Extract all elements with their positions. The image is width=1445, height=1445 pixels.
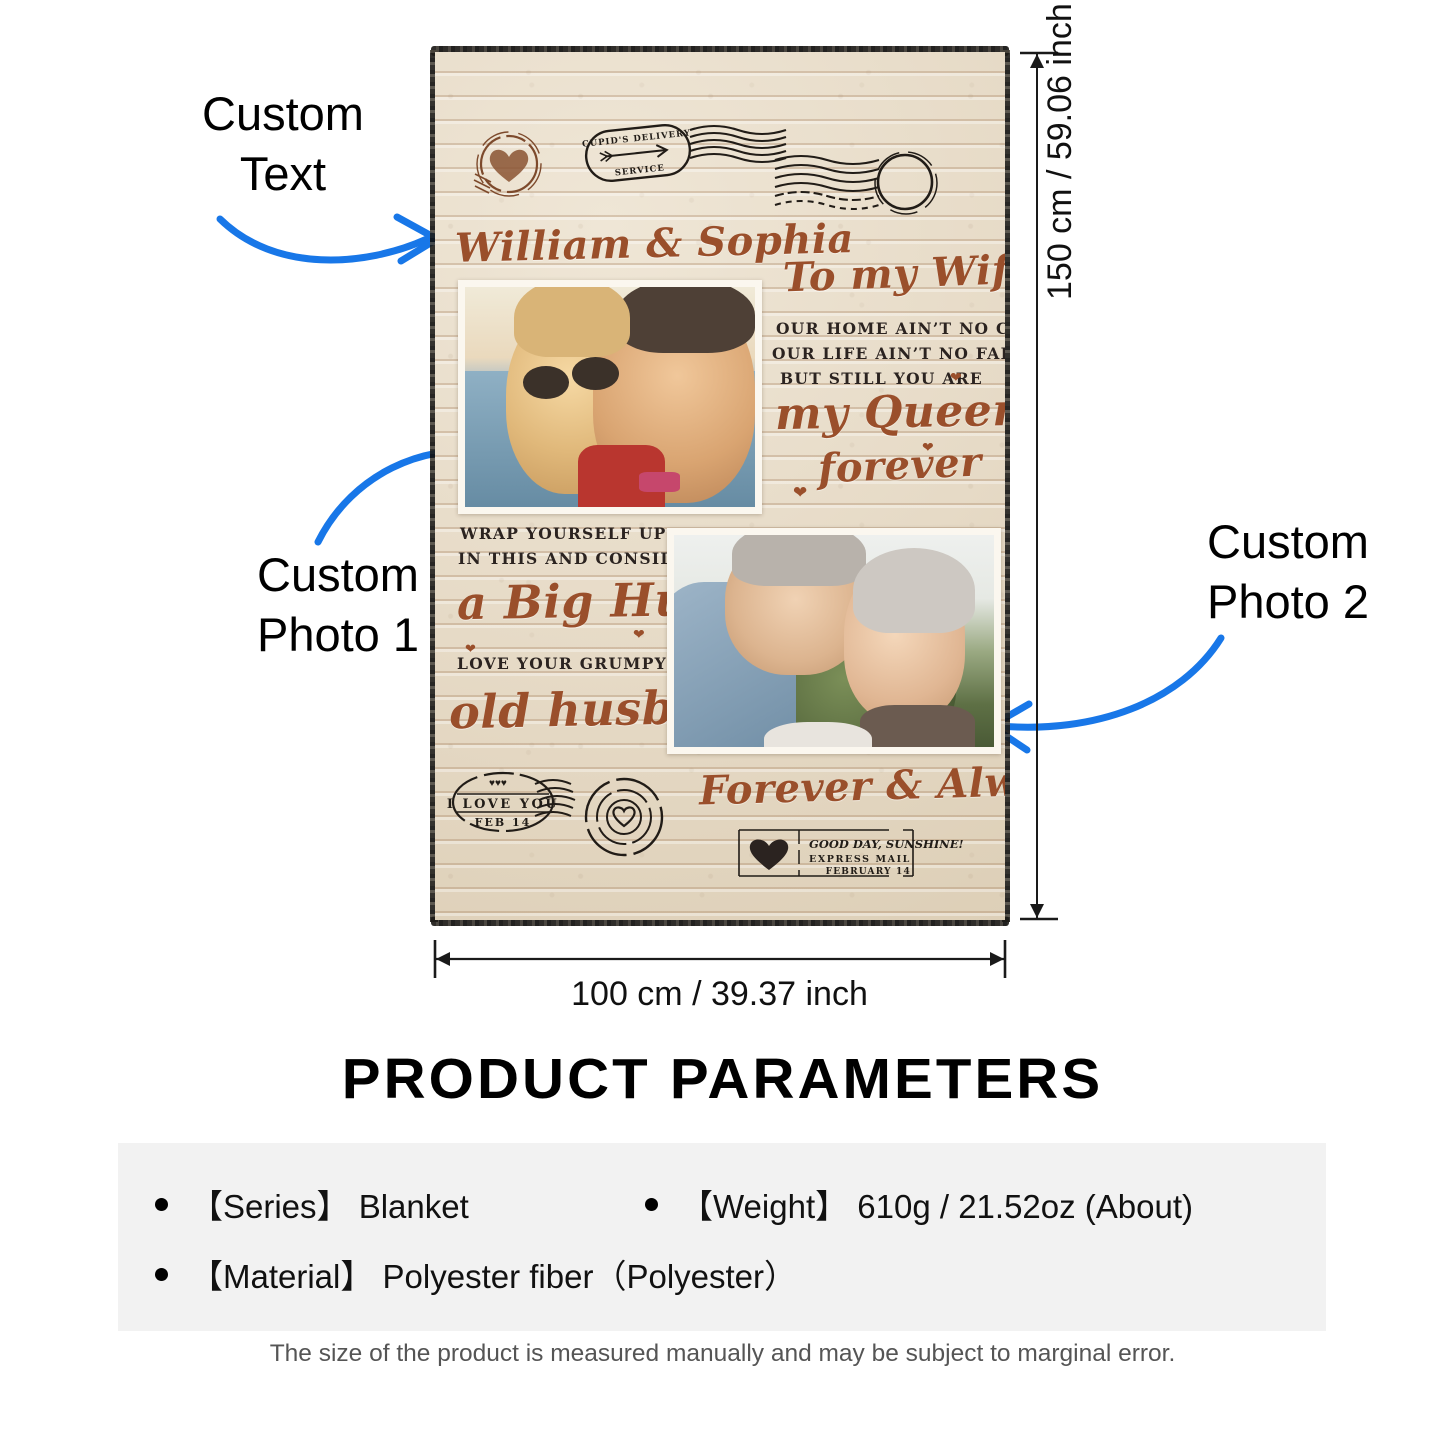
svg-text:FEBRUARY 14: FEBRUARY 14: [826, 867, 911, 877]
annotation-custom-photo-2: Custom Photo 2: [1128, 512, 1445, 632]
custom-photo-1-image: [458, 280, 762, 514]
product-parameters-title: PRODUCT PARAMETERS: [0, 1046, 1445, 1112]
product-parameters-panel: [118, 1143, 1326, 1331]
dimension-label-height: 150 cm / 59.06 inch: [1041, 3, 1080, 300]
parameter-material-text: 【Material】 Polyester fiber（Polyester）: [190, 1250, 797, 1298]
svg-text:FEB 14: FEB 14: [475, 816, 532, 829]
svg-text:CUPID'S DELIVERY: CUPID'S DELIVERY: [582, 128, 692, 149]
cancellation-wave-small: [690, 124, 786, 166]
hug-verse-line-1: WRAP YOURSELF UP: [460, 524, 667, 543]
forever-and-always-script: Forever & Always: [698, 757, 1005, 815]
annotation-custom-text: Custom Text: [133, 84, 433, 204]
dimension-line-vertical: [1036, 52, 1038, 918]
heart-glyph-icon: ❤: [793, 484, 807, 501]
hug-verse-line-3: LOVE YOUR GRUMPY: [457, 654, 667, 673]
my-queen-script: my Queen: [775, 385, 1005, 440]
parameter-weight-text: 【Weight】 610g / 21.52oz (About): [680, 1180, 1193, 1228]
dimension-label-width: 100 cm / 39.37 inch: [432, 975, 1007, 1014]
arrow-custom-photo-2: [985, 630, 1225, 740]
to-my-wife-heading: To my Wife: [782, 246, 1005, 302]
cupids-delivery-stamp: CUPID'S DELIVERY SERVICE: [580, 116, 696, 189]
express-mail-stamp: GOOD DAY, SUNSHINE! EXPRESS MAIL FEBRUAR…: [735, 820, 917, 880]
heart-postmark-icon: [471, 130, 547, 202]
product-listing-canvas: Custom Text Custom Photo 1 Custom Photo …: [0, 0, 1445, 1445]
cancellation-wave-circle: [775, 152, 951, 224]
blanket-face: CUPID'S DELIVERY SERVICE: [435, 52, 1005, 920]
svg-text:EXPRESS MAIL: EXPRESS MAIL: [809, 854, 911, 865]
bullet-icon: [155, 1268, 168, 1281]
i-love-you-stamp: I LOVE YOU FEB 14 ♥♥♥: [449, 766, 575, 838]
heart-glyph-icon: ❤: [633, 627, 645, 641]
parameter-row-material: 【Material】 Polyester fiber（Polyester）: [155, 1250, 797, 1298]
arrow-custom-text: [215, 195, 460, 290]
bullet-icon: [155, 1198, 168, 1211]
svg-text:♥♥♥: ♥♥♥: [489, 778, 507, 789]
forever-script: forever: [817, 438, 983, 492]
parameter-series-text: 【Series】 Blanket: [190, 1180, 469, 1228]
custom-photo-2-image: [667, 528, 1001, 754]
svg-text:GOOD DAY, SUNSHINE!: GOOD DAY, SUNSHINE!: [809, 837, 964, 851]
heart-glyph-icon: ❤: [950, 370, 962, 384]
blanket-product-image: CUPID'S DELIVERY SERVICE: [435, 52, 1005, 920]
parameter-row-weight: 【Weight】 610g / 21.52oz (About): [645, 1180, 1193, 1228]
heart-circle-stamp: [583, 774, 665, 860]
measurement-disclaimer-note: The size of the product is measured manu…: [0, 1340, 1445, 1368]
wife-verse-line-2: OUR LIFE AIN’T NO FAIRY TALE: [772, 344, 1005, 363]
bullet-icon: [645, 1198, 658, 1211]
wife-verse-line-1: OUR HOME AIN’T NO CASTLE: [776, 319, 1005, 338]
parameter-row-series: 【Series】 Blanket: [155, 1180, 469, 1228]
